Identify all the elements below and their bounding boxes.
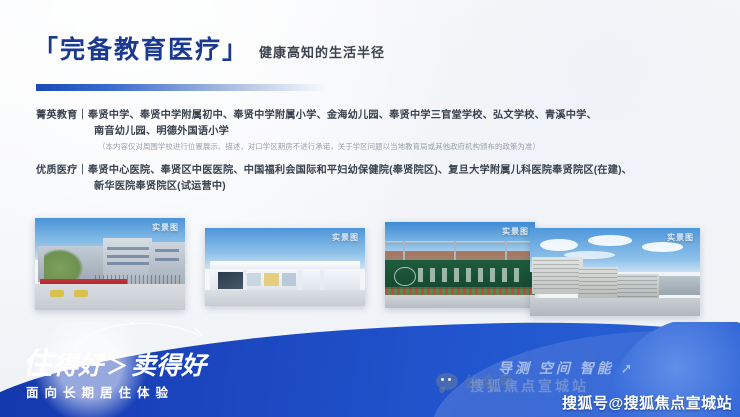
photo1-planter-2 <box>74 290 88 297</box>
section-education: 菁英教育｜奉贤中学、奉贤中学附属初中、奉贤中学附属小学、金海幼儿园、奉贤中学三官… <box>36 108 708 153</box>
photo2-column-2 <box>298 270 302 292</box>
photo2-column-3 <box>320 270 324 292</box>
photo3-flower-bed <box>385 287 535 295</box>
banner-slogan: 住 得好 ＞ 卖得好 <box>22 349 206 381</box>
photo3-gantry-leg-1 <box>403 241 405 260</box>
photo2-glass-1 <box>247 273 261 285</box>
photo1-window-row-4 <box>155 249 179 252</box>
sohu-watermark: 搜狐号@搜狐焦点宣城站 <box>562 392 732 413</box>
wechat-icon <box>436 373 458 390</box>
slogan-char-zhu: 住 <box>22 350 52 380</box>
photo1-window-row-2 <box>107 255 149 258</box>
photo4-windows-c <box>617 276 658 297</box>
photo-green-hoarding[interactable]: 实景图 <box>385 222 535 308</box>
education-line-2: 南音幼儿园、明德外国语小学 <box>36 124 708 140</box>
slogan-maidehao: 卖得好 <box>131 354 206 379</box>
photo4-tag: 实景图 <box>667 232 694 243</box>
slide-root: 「完备教育医疗」 健康高知的生活半径 菁英教育｜奉贤中学、奉贤中学附属初中、奉贤… <box>0 0 740 417</box>
banner-slogan-subtitle: 面向长期居住体验 <box>26 382 174 401</box>
title-underline-bar <box>36 84 326 91</box>
photo1-window-row-5 <box>155 258 179 261</box>
photo3-emblem <box>394 267 416 286</box>
photo1-window-row-1 <box>107 247 149 250</box>
education-disclaimer-note: （本内容仅对周围学校进行位置展示、描述，对口学区期房不进行承诺，关于学区问题以当… <box>36 140 708 153</box>
medical-line-1: 优质医疗｜奉贤中心医院、奉贤区中医医院、中国福利会国际和平妇幼保健院(奉贤院区)… <box>36 163 708 179</box>
title-subtitle-text: 健康高知的生活半径 <box>259 42 385 61</box>
faint-watermark-upper: 导测 空间 智能 ➚ <box>498 358 635 378</box>
photo1-trees <box>44 249 83 280</box>
photo4-distant-skyline <box>656 276 700 295</box>
wechat-icon-dot-2 <box>448 378 451 381</box>
education-line-1: 菁英教育｜奉贤中学、奉贤中学附属初中、奉贤中学附属小学、金海幼儿园、奉贤中学三官… <box>36 108 708 124</box>
title-main-text: 「完备教育医疗」 <box>33 38 249 63</box>
photo1-window-row-3 <box>107 262 149 265</box>
photo2-tag: 实景图 <box>332 232 359 243</box>
photo4-windows-a <box>533 260 579 292</box>
wechat-icon-dot-1 <box>441 378 444 381</box>
page-title: 「完备教育医疗」 健康高知的生活半径 <box>33 38 385 63</box>
photo4-cloud-1 <box>540 239 577 251</box>
photo3-wall-text <box>418 268 523 282</box>
photo4-ground <box>530 298 700 316</box>
photo3-gantry-leg-2 <box>454 241 456 260</box>
content-text-block: 菁英教育｜奉贤中学、奉贤中学附属初中、奉贤中学附属小学、金海幼儿园、奉贤中学三官… <box>36 108 708 205</box>
photo2-shadow-void <box>218 272 244 289</box>
slogan-dehao: 得好 <box>53 354 103 379</box>
photo4-cloud-2 <box>588 235 632 246</box>
photo3-tag: 实景图 <box>502 226 529 237</box>
medical-line-2: 新华医院奉贤院区(试运营中) <box>36 179 708 195</box>
photo1-tag: 实景图 <box>152 222 179 233</box>
photo1-ground <box>35 284 185 310</box>
photo2-glass-2 <box>264 273 278 285</box>
photo1-planter-1 <box>50 290 64 297</box>
photo4-windows-b <box>579 269 616 295</box>
photo3-gantry-beam <box>385 241 535 244</box>
photo4-cloud-3 <box>642 242 683 252</box>
photo-school-building[interactable]: 实景图 <box>35 218 185 310</box>
photo2-glass-3 <box>282 273 296 285</box>
photo3-road <box>385 295 535 308</box>
photo2-ground <box>205 290 365 306</box>
section-medical: 优质医疗｜奉贤中心医院、奉贤区中医医院、中国福利会国际和平妇幼保健院(奉贤院区)… <box>36 163 708 195</box>
photo-hospital-complex[interactable]: 实景图 <box>530 228 700 316</box>
photo3-gantry-leg-3 <box>505 241 507 260</box>
photo-campus-gate[interactable]: 实景图 <box>205 228 365 306</box>
slogan-arrow-icon: ＞ <box>104 349 130 381</box>
